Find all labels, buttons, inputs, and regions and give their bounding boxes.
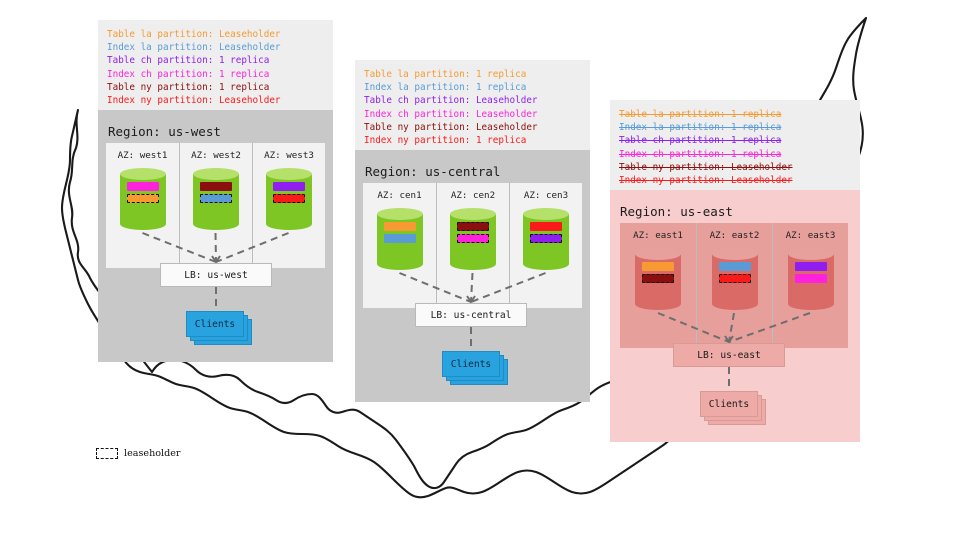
region-title-us-east: Region: us-east xyxy=(620,204,733,219)
az-label: AZ: east3 xyxy=(786,230,836,241)
partition-bar-index_la xyxy=(384,234,416,243)
az-row-us-west: AZ: west1AZ: west2AZ: west3 xyxy=(106,143,325,268)
az-label: AZ: west2 xyxy=(191,150,241,161)
partition-bar-index_ny-leaseholder xyxy=(273,194,305,203)
legend-line-index_ch: Index ch partition: 1 replica xyxy=(619,148,851,161)
database-cylinder-icon xyxy=(193,168,239,230)
load-balancer-us-west[interactable]: LB: us-west xyxy=(160,263,272,287)
database-cylinder-icon xyxy=(377,208,423,270)
clients-stack-us-central[interactable]: Clients xyxy=(442,351,510,387)
clients-box-us-east[interactable]: Clients xyxy=(700,391,758,417)
az-label: AZ: cen2 xyxy=(451,190,495,201)
partition-bar-table_la xyxy=(642,262,674,271)
database-cylinder-icon xyxy=(523,208,569,270)
database-cylinder-icon xyxy=(712,248,758,310)
partition-bar-index_ch-leaseholder xyxy=(457,234,489,243)
diagram-canvas: Table la partition: LeaseholderIndex la … xyxy=(0,0,960,540)
partition-bar-table_la xyxy=(384,222,416,231)
partition-bar-table_ch xyxy=(273,182,305,191)
load-balancer-us-central[interactable]: LB: us-central xyxy=(415,303,527,327)
az-east3: AZ: east3 xyxy=(772,223,848,348)
partition-bar-table_ny-leaseholder xyxy=(642,274,674,283)
leaseholder-swatch-icon xyxy=(96,448,118,459)
legend-line-table_la: Table la partition: 1 replica xyxy=(619,108,851,121)
az-cen3: AZ: cen3 xyxy=(509,183,582,308)
leaseholder-legend-label: leaseholder xyxy=(124,448,181,459)
legend-line-table_la: Table la partition: 1 replica xyxy=(364,68,581,81)
legend-line-table_ch: Table ch partition: 1 replica xyxy=(107,54,324,67)
partition-bar-index_ny-leaseholder xyxy=(719,274,751,283)
partition-bar-table_ch-leaseholder xyxy=(530,234,562,243)
region-title-us-central: Region: us-central xyxy=(365,164,500,179)
legend-line-table_la: Table la partition: Leaseholder xyxy=(107,28,324,41)
database-cylinder-icon xyxy=(120,168,166,230)
database-cylinder-icon xyxy=(788,248,834,310)
clients-box-us-central[interactable]: Clients xyxy=(442,351,500,377)
region-legend-us-east: Table la partition: 1 replicaIndex la pa… xyxy=(610,100,860,190)
az-label: AZ: west1 xyxy=(118,150,168,161)
region-legend-us-central: Table la partition: 1 replicaIndex la pa… xyxy=(355,60,590,150)
legend-line-index_ch: Index ch partition: Leaseholder xyxy=(364,108,581,121)
legend-line-table_ny: Table ny partition: Leaseholder xyxy=(364,121,581,134)
partition-bar-table_la-leaseholder xyxy=(127,194,159,203)
database-cylinder-icon xyxy=(450,208,496,270)
legend-line-index_la: Index la partition: Leaseholder xyxy=(107,41,324,54)
partition-bar-index_ch xyxy=(795,274,827,283)
legend-line-table_ch: Table ch partition: 1 replica xyxy=(619,134,851,147)
az-row-us-east: AZ: east1AZ: east2AZ: east3 xyxy=(620,223,848,348)
legend-line-index_ch: Index ch partition: 1 replica xyxy=(107,68,324,81)
az-label: AZ: cen1 xyxy=(377,190,421,201)
az-east1: AZ: east1 xyxy=(620,223,696,348)
az-cen1: AZ: cen1 xyxy=(363,183,436,308)
az-row-us-central: AZ: cen1AZ: cen2AZ: cen3 xyxy=(363,183,582,308)
clients-box-us-west[interactable]: Clients xyxy=(186,311,244,337)
az-label: AZ: east2 xyxy=(710,230,760,241)
legend-line-index_la: Index la partition: 1 replica xyxy=(619,121,851,134)
az-west3: AZ: west3 xyxy=(252,143,325,268)
legend-line-index_ny: Index ny partition: Leaseholder xyxy=(107,94,324,107)
legend-line-table_ny: Table ny partition: 1 replica xyxy=(107,81,324,94)
legend-line-index_la: Index la partition: 1 replica xyxy=(364,81,581,94)
partition-bar-index_ch xyxy=(127,182,159,191)
clients-stack-us-west[interactable]: Clients xyxy=(186,311,254,347)
region-legend-us-west: Table la partition: LeaseholderIndex la … xyxy=(98,20,333,110)
az-cen2: AZ: cen2 xyxy=(436,183,509,308)
partition-bar-index_la xyxy=(719,262,751,271)
partition-bar-table_ch xyxy=(795,262,827,271)
az-east2: AZ: east2 xyxy=(696,223,772,348)
az-label: AZ: cen3 xyxy=(524,190,568,201)
partition-bar-table_ny-leaseholder xyxy=(457,222,489,231)
legend-line-table_ny: Table ny partition: Leaseholder xyxy=(619,161,851,174)
legend-line-table_ch: Table ch partition: Leaseholder xyxy=(364,94,581,107)
load-balancer-us-east[interactable]: LB: us-east xyxy=(673,343,785,367)
database-cylinder-icon xyxy=(266,168,312,230)
az-label: AZ: west3 xyxy=(264,150,314,161)
partition-bar-index_ny xyxy=(530,222,562,231)
az-west2: AZ: west2 xyxy=(179,143,252,268)
leaseholder-legend: leaseholder xyxy=(96,448,181,459)
region-title-us-west: Region: us-west xyxy=(108,124,221,139)
partition-bar-table_ny xyxy=(200,182,232,191)
database-cylinder-icon xyxy=(635,248,681,310)
az-west1: AZ: west1 xyxy=(106,143,179,268)
clients-stack-us-east[interactable]: Clients xyxy=(700,391,768,427)
legend-line-index_ny: Index ny partition: 1 replica xyxy=(364,134,581,147)
az-label: AZ: east1 xyxy=(633,230,683,241)
partition-bar-index_la-leaseholder xyxy=(200,194,232,203)
legend-line-index_ny: Index ny partition: Leaseholder xyxy=(619,174,851,187)
